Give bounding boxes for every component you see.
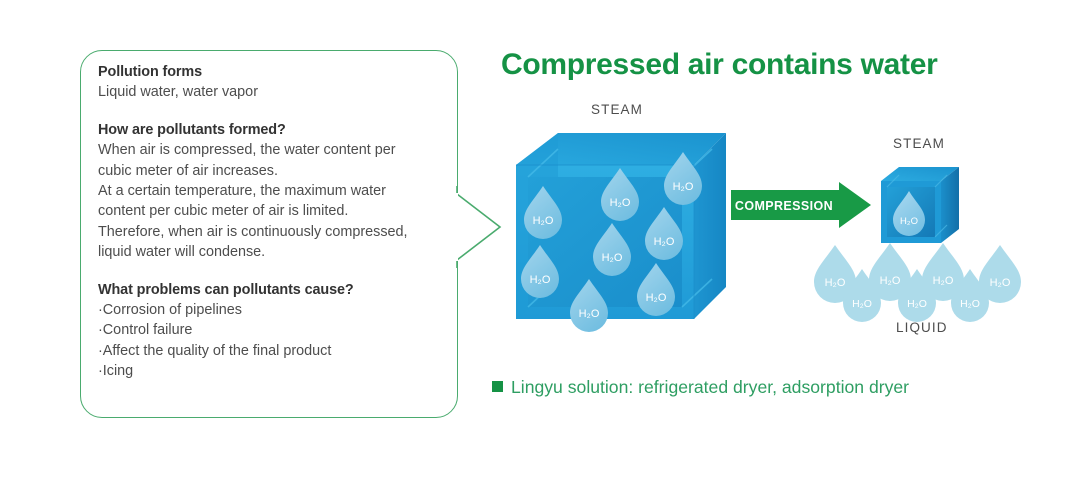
droplet-label: H₂O xyxy=(579,308,600,320)
droplet-label: H₂O xyxy=(530,274,551,286)
droplet-label: H₂O xyxy=(907,298,927,310)
droplet-label: H₂O xyxy=(825,277,846,289)
droplet-label: H₂O xyxy=(610,197,631,209)
droplet-label: H₂O xyxy=(602,252,623,264)
droplet-label: H₂O xyxy=(900,216,918,227)
compressed-air-diagram: Compressed air contains water STEAM STEA… xyxy=(0,0,1080,488)
solution-caption-text: Lingyu solution: refrigerated dryer, ads… xyxy=(511,377,909,397)
big-cube-graphic: H₂O H₂O H₂O H₂O H₂O xyxy=(516,133,726,333)
liquid-droplets-graphic: H₂O H₂O H₂O H₂O H₂O xyxy=(812,243,1022,315)
droplet-label: H₂O xyxy=(960,298,980,310)
droplet-label: H₂O xyxy=(673,181,694,193)
steam-label-small-cube: STEAM xyxy=(893,136,945,151)
droplet-label: H₂O xyxy=(654,236,675,248)
droplet-label: H₂O xyxy=(533,215,554,227)
big-air-volume-cube: H₂O H₂O H₂O H₂O H₂O xyxy=(516,133,726,333)
compression-arrow: COMPRESSION xyxy=(731,182,871,228)
compression-arrow-graphic: COMPRESSION xyxy=(731,182,871,228)
solution-caption: Lingyu solution: refrigerated dryer, ads… xyxy=(492,377,909,398)
compression-arrow-label: COMPRESSION xyxy=(735,199,833,213)
page-title: Compressed air contains water xyxy=(501,48,937,82)
steam-label-big-cube: STEAM xyxy=(591,102,643,117)
droplet-label: H₂O xyxy=(852,298,872,310)
small-air-volume-cube: H₂O xyxy=(881,167,959,243)
droplet-label: H₂O xyxy=(990,277,1011,289)
droplet-label: H₂O xyxy=(880,275,901,287)
liquid-droplet-cluster: H₂O H₂O H₂O H₂O H₂O xyxy=(812,243,1022,315)
droplet-label: H₂O xyxy=(646,292,667,304)
solution-bullet-icon xyxy=(492,381,503,392)
droplet-label: H₂O xyxy=(933,275,954,287)
liquid-label: LIQUID xyxy=(896,320,948,335)
small-cube-graphic: H₂O xyxy=(881,167,959,243)
